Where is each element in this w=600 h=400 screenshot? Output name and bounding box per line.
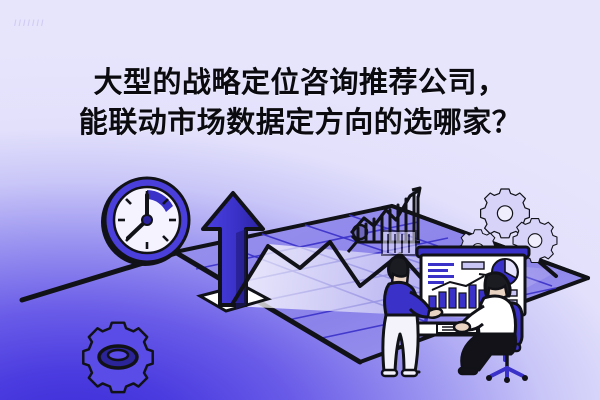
- presenter-shoes: [382, 370, 417, 376]
- poster-canvas: /////// 大型的战略定位咨询推荐公司， 能联动市场数据定方向的选哪家？: [0, 0, 600, 400]
- gear-large: [83, 323, 152, 392]
- seated-worker-hand: [454, 322, 470, 332]
- seated-worker-shoe: [459, 368, 477, 374]
- wall-chart-strips: [382, 231, 416, 255]
- clock: [101, 178, 189, 266]
- illustration: [0, 0, 600, 400]
- seated-worker-shirt: [478, 296, 515, 334]
- presenter-hand: [428, 309, 442, 318]
- chair-base: [491, 368, 523, 378]
